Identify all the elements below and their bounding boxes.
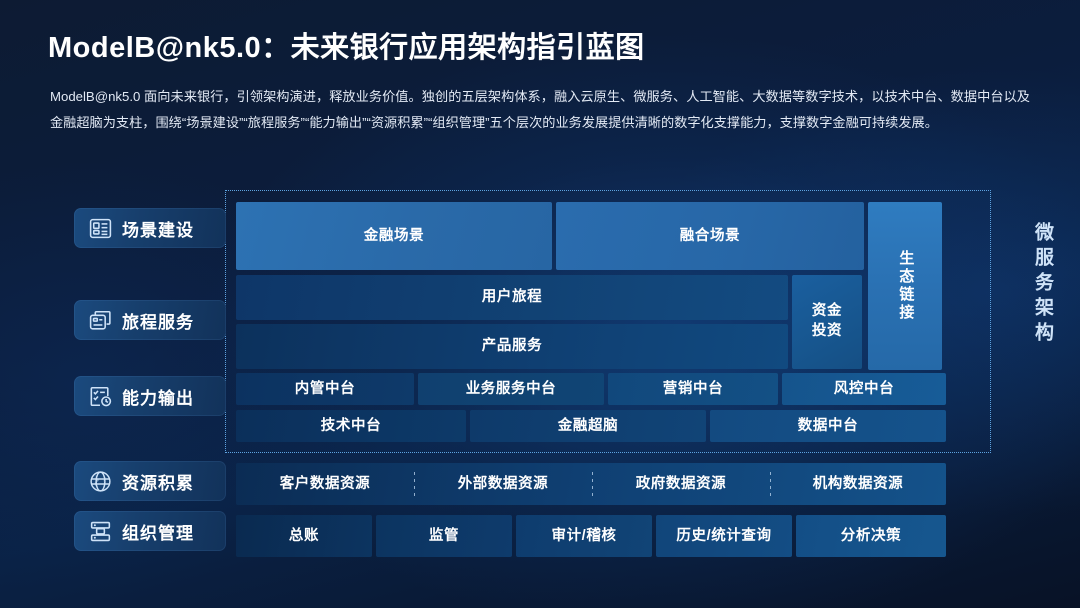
- globe-icon: [87, 468, 113, 494]
- journey-block-product[interactable]: 产品服务: [236, 324, 788, 369]
- resource-block-external[interactable]: 外部数据资源: [414, 463, 592, 505]
- sidebar-item-label: 能力输出: [122, 384, 194, 409]
- organization-block-regulation[interactable]: 监管: [376, 515, 512, 557]
- capability-block-brain[interactable]: 金融超脑: [470, 410, 706, 442]
- sidebar-item-resource[interactable]: 资源积累: [74, 461, 226, 501]
- capability-block-tech[interactable]: 技术中台: [236, 410, 466, 442]
- block-label: 产品服务: [482, 337, 542, 355]
- organization-block-audit[interactable]: 审计/稽核: [516, 515, 652, 557]
- block-label: 历史/统计查询: [676, 527, 771, 545]
- resource-block-institution[interactable]: 机构数据资源: [770, 463, 946, 505]
- block-label: 内管中台: [295, 380, 355, 398]
- sidebar-item-capability[interactable]: 能力输出: [74, 376, 226, 416]
- microservice-architecture-label: 微服务架构: [1029, 222, 1056, 427]
- block-label: 业务服务中台: [466, 380, 557, 398]
- sidebar-item-scene[interactable]: 场景建设: [74, 208, 226, 248]
- block-label: 审计/稽核: [551, 527, 616, 545]
- eco-link-block[interactable]: 生态链接: [868, 202, 942, 370]
- scene-block-integrated[interactable]: 融合场景: [556, 202, 864, 270]
- capability-block-data[interactable]: 数据中台: [710, 410, 946, 442]
- block-label: 金融场景: [364, 227, 424, 245]
- block-label: 客户数据资源: [280, 475, 371, 493]
- organization-block-history[interactable]: 历史/统计查询: [656, 515, 792, 557]
- capability-block-risk[interactable]: 风控中台: [782, 373, 946, 405]
- org-chart-icon: [87, 518, 113, 544]
- block-label: 用户旅程: [482, 288, 542, 306]
- architecture-diagram: 场景建设 旅程服务 能力输出: [0, 0, 1080, 608]
- capability-block-internal[interactable]: 内管中台: [236, 373, 414, 405]
- block-label: 政府数据资源: [636, 475, 727, 493]
- card-swipe-icon: [87, 307, 113, 333]
- organization-block-analysis[interactable]: 分析决策: [796, 515, 946, 557]
- journey-block-user[interactable]: 用户旅程: [236, 275, 788, 320]
- sidebar-item-label: 组织管理: [122, 519, 194, 544]
- block-label: 监管: [429, 527, 459, 545]
- resource-divider-2: [592, 472, 593, 496]
- block-label: 金融超脑: [558, 417, 618, 435]
- scene-block-financial[interactable]: 金融场景: [236, 202, 552, 270]
- capability-block-marketing[interactable]: 营销中台: [608, 373, 778, 405]
- checklist-clock-icon: [87, 383, 113, 409]
- layout-grid-icon: [87, 215, 113, 241]
- sidebar-item-label: 旅程服务: [122, 308, 194, 333]
- fund-investment-block[interactable]: 资金投资: [792, 275, 862, 369]
- block-label: 营销中台: [663, 380, 723, 398]
- block-label: 机构数据资源: [813, 475, 904, 493]
- block-label: 数据中台: [798, 417, 858, 435]
- block-label: 总账: [289, 527, 319, 545]
- block-label: 风控中台: [834, 380, 894, 398]
- resource-divider-3: [770, 472, 771, 496]
- sidebar-item-label: 场景建设: [122, 216, 194, 241]
- sidebar-item-journey[interactable]: 旅程服务: [74, 300, 226, 340]
- capability-block-business-service[interactable]: 业务服务中台: [418, 373, 604, 405]
- organization-block-ledger[interactable]: 总账: [236, 515, 372, 557]
- sidebar-item-organization[interactable]: 组织管理: [74, 511, 226, 551]
- block-label: 资金投资: [810, 302, 845, 341]
- resource-block-customer[interactable]: 客户数据资源: [236, 463, 414, 505]
- resource-divider-1: [414, 472, 415, 496]
- block-label: 技术中台: [321, 417, 381, 435]
- block-label: 分析决策: [841, 527, 901, 545]
- sidebar-item-label: 资源积累: [122, 469, 194, 494]
- block-label: 生态链接: [896, 250, 915, 322]
- resource-block-government[interactable]: 政府数据资源: [592, 463, 770, 505]
- block-label: 融合场景: [680, 227, 740, 245]
- block-label: 外部数据资源: [458, 475, 549, 493]
